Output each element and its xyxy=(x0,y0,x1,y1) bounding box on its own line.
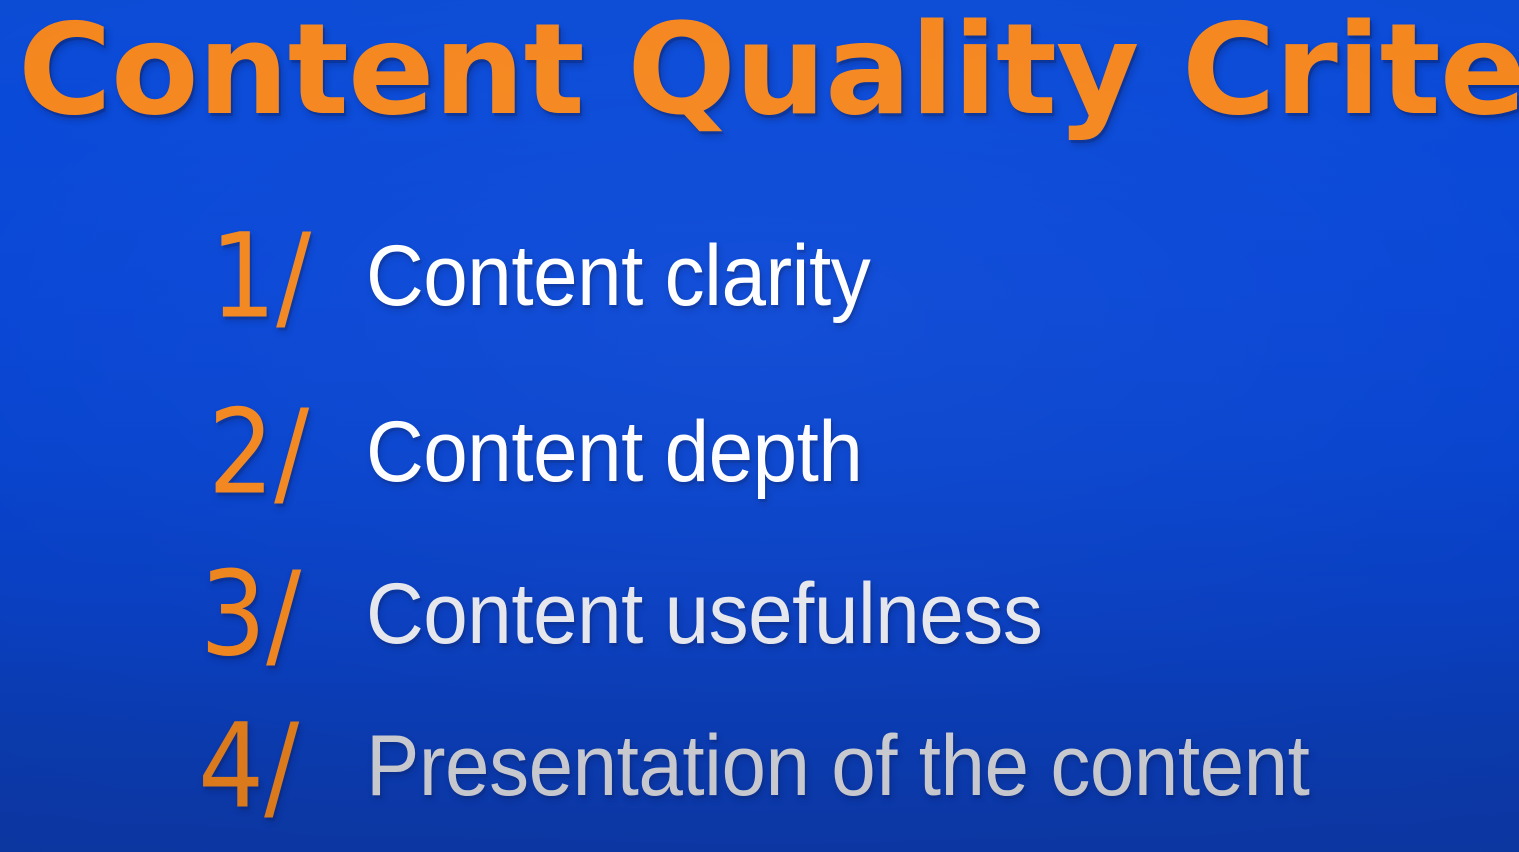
list-item-label-3: Content usefulness xyxy=(366,568,1042,660)
criteria-list: 1/ Content clarity 2/ Content depth 3/ C… xyxy=(0,206,1519,852)
list-item-label-4: Presentation of the content xyxy=(366,720,1309,812)
list-item-marker-3: 3/ xyxy=(200,556,301,672)
list-item: 1/ Content clarity xyxy=(0,206,1519,346)
list-item: 4/ Presentation of the content xyxy=(0,696,1519,836)
list-item-label-1: Content clarity xyxy=(366,230,870,322)
list-item-marker-2: 2/ xyxy=(208,394,309,510)
list-item-marker-1: 1/ xyxy=(210,218,311,334)
list-item: 3/ Content usefulness xyxy=(0,544,1519,684)
slide-canvas: Content Quality Criteria 1/ Content clar… xyxy=(0,0,1519,852)
list-item-label-2: Content depth xyxy=(366,406,862,498)
list-item-marker-4: 4/ xyxy=(198,708,299,824)
list-item: 2/ Content depth xyxy=(0,382,1519,522)
title-block: Content Quality Criteria xyxy=(0,0,1519,150)
page-title: Content Quality Criteria xyxy=(18,4,1519,136)
